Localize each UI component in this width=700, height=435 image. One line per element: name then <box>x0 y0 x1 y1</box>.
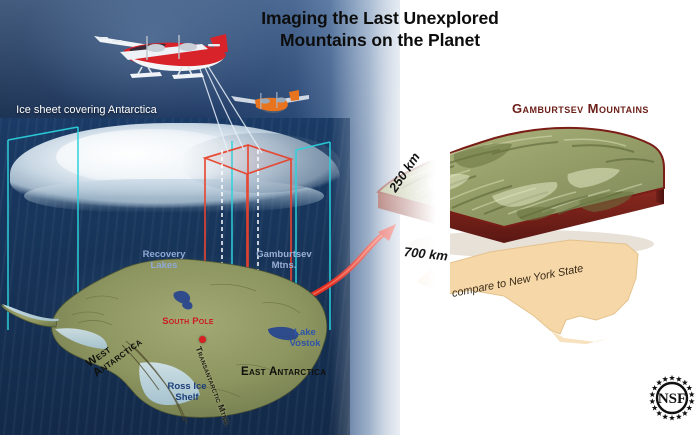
label-east-antarctica: East Antarctica <box>241 366 326 378</box>
ice-sheet-shadow <box>180 133 340 193</box>
label-gamburtsev-mtns: Gamburtsev Mtns. <box>253 249 315 272</box>
label-south-pole: South Pole <box>160 316 216 327</box>
south-pole-marker-dot <box>199 336 206 343</box>
nsf-seal-logo: NSF <box>648 372 696 424</box>
survey-aircraft-second <box>229 82 311 124</box>
label-recovery-lakes: Recovery Lakes <box>133 249 195 272</box>
title-line-1: Imaging the Last Unexplored <box>215 8 545 30</box>
label-ross-ice-shelf: Ross Ice Shelf <box>163 381 211 404</box>
label-lake-vostok: Lake Vostok <box>281 327 329 350</box>
right-panel-heading: Gamburtsev Mountains <box>512 101 649 116</box>
ice-sheet-slab <box>10 123 340 215</box>
panel-gradient-seam <box>330 0 450 435</box>
nsf-wordmark: NSF <box>658 391 686 407</box>
poster-infographic: Imaging the Last Unexplored Mountains on… <box>0 0 700 435</box>
label-ice-sheet: Ice sheet covering Antarctica <box>14 104 159 118</box>
page-title: Imaging the Last Unexplored Mountains on… <box>215 8 545 51</box>
title-line-2: Mountains on the Planet <box>215 30 545 52</box>
survey-aircraft-twin-otter <box>90 22 235 84</box>
